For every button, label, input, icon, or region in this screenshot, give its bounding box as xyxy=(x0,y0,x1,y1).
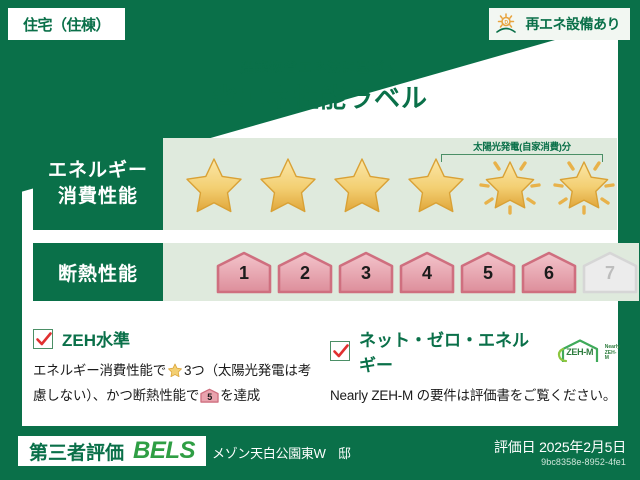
zeh-standard-title: ZEH水準 xyxy=(62,326,130,351)
star-icon xyxy=(255,151,321,217)
insulation-performance-value: 1 2 3 4 xyxy=(163,243,639,301)
house-grade-badge: 4 xyxy=(398,250,456,294)
star-icon xyxy=(329,151,395,217)
insulation-grade-scale: 1 2 3 4 xyxy=(215,250,639,294)
star-icon xyxy=(167,362,183,385)
house-grade-badge: 3 xyxy=(337,250,395,294)
house-grade-value: 5 xyxy=(459,263,517,284)
zeh-standard-header: ZEH水準 xyxy=(33,326,318,351)
insulation-performance-row: 断熱性能 1 2 xyxy=(33,243,607,301)
house-grade-badge-inactive: 7 xyxy=(581,250,639,294)
house-grade-value: 3 xyxy=(337,263,395,284)
title-subtitle: 建築物省エネ法に基づく xyxy=(0,56,640,76)
bels-label: BELS xyxy=(133,437,195,465)
page-title: 建築物省エネ法に基づく 省エネ性能ラベル xyxy=(0,56,640,115)
check-icon xyxy=(35,330,53,348)
house-grade-value: 4 xyxy=(398,263,456,284)
solar-annotation: 太陽光発電(自家消費)分 xyxy=(441,139,603,162)
zeh-standard-section: ZEH水準 エネルギー消費性能で3つ（太陽光発電は考慮しない）、かつ断熱性能で5… xyxy=(33,326,318,407)
building-name: メゾン天白公園東W xyxy=(212,443,326,462)
star-icon xyxy=(181,151,247,217)
net-zero-energy-checkbox[interactable] xyxy=(330,341,350,361)
third-party-label: 第三者評価 xyxy=(29,438,124,465)
solar-annotation-label: 太陽光発電(自家消費)分 xyxy=(441,139,603,153)
zeh-body-part1: エネルギー消費性能で xyxy=(33,363,166,378)
evaluation-id: 9bc8358e-8952-4fe1 xyxy=(541,457,626,467)
energy-performance-row: エネルギー 消費性能 xyxy=(33,138,607,230)
house-grade-badge: 6 xyxy=(520,250,578,294)
zeh-m-logo: ZEH-M Nearly ZEH-M xyxy=(557,338,620,364)
energy-performance-label: エネルギー 消費性能 xyxy=(33,138,163,230)
renewable-equipment-badge: D 再エネ設備あり xyxy=(489,8,631,40)
zeh-m-logo-sub2: ZEH-M xyxy=(605,351,620,362)
bels-badge: 第三者評価 BELS xyxy=(18,436,206,466)
zeh-body-part3: を達成 xyxy=(220,388,260,403)
insulation-label-text: 断熱性能 xyxy=(58,259,138,286)
net-zero-energy-section: ネット・ゼロ・エネルギー ZEH-M Nearly ZEH-M Nearly Z… xyxy=(330,326,620,407)
zeh-standard-body: エネルギー消費性能で3つ（太陽光発電は考慮しない）、かつ断熱性能で5を達成 xyxy=(33,360,318,407)
zeh-m-logo-text: ZEH-M xyxy=(557,347,603,357)
house-grade-value: 7 xyxy=(581,263,639,284)
label-footer: 第三者評価 BELS メゾン天白公園東W 邸 評価日 2025年2月5日 9bc… xyxy=(0,428,640,480)
title-main: 省エネ性能ラベル xyxy=(0,78,640,115)
house-grade-value: 6 xyxy=(520,263,578,284)
net-zero-energy-body: Nearly ZEH-M の要件は評価書をご覧ください。 xyxy=(330,385,620,407)
house-grade-badge: 1 xyxy=(215,250,273,294)
net-zero-energy-title: ネット・ゼロ・エネルギー xyxy=(359,326,544,376)
house-grade-icon: 5 xyxy=(200,388,219,403)
house-grade-value: 1 xyxy=(215,263,273,284)
zeh-standard-checkbox[interactable] xyxy=(33,329,53,349)
sun-solar-icon: D xyxy=(495,12,521,36)
category-chip-label: 住宅（住棟） xyxy=(23,14,110,35)
energy-label-line1: エネルギー xyxy=(48,158,148,184)
energy-performance-label: 住宅（住棟） D 再エネ設備あり 建築物省エネ法に基づ xyxy=(0,0,640,480)
check-icon xyxy=(332,342,350,360)
evaluation-date: 評価日 2025年2月5日 xyxy=(494,437,626,457)
solar-annotation-bracket xyxy=(441,154,603,162)
energy-performance-value: 太陽光発電(自家消費)分 xyxy=(163,138,617,230)
building-name-suffix: 邸 xyxy=(338,443,351,462)
house-grade-value: 2 xyxy=(276,263,334,284)
energy-label-line2: 消費性能 xyxy=(58,184,138,210)
house-grade-badge: 5 xyxy=(459,250,517,294)
house-grade-badge: 2 xyxy=(276,250,334,294)
insulation-performance-label: 断熱性能 xyxy=(33,243,163,301)
category-chip: 住宅（住棟） xyxy=(8,8,125,40)
net-zero-energy-header: ネット・ゼロ・エネルギー ZEH-M Nearly ZEH-M xyxy=(330,326,620,376)
house-grade-icon-value: 5 xyxy=(200,390,219,405)
renewable-equipment-label: 再エネ設備あり xyxy=(526,14,621,34)
